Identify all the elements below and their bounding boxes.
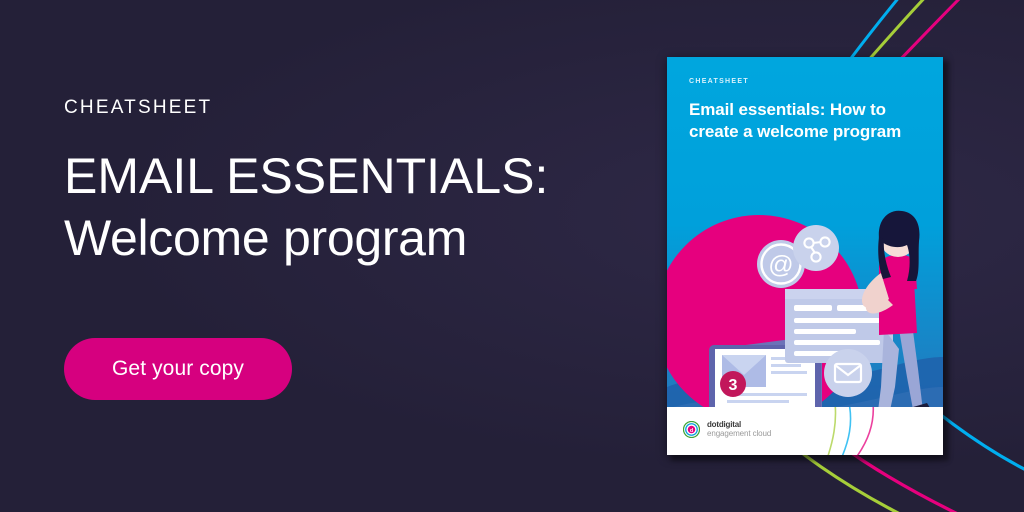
dotdigital-logo: d dotdigital engagement cloud: [683, 421, 771, 439]
eyebrow-label: CHEATSHEET: [64, 98, 624, 117]
svg-text:3: 3: [729, 377, 738, 394]
logo-tagline: engagement cloud: [707, 430, 771, 439]
page-title: EMAIL ESSENTIALS: Welcome program: [64, 151, 624, 263]
envelope-icon: [824, 349, 872, 397]
cover-footer: d dotdigital engagement cloud: [667, 407, 943, 455]
notification-badge: 3: [720, 371, 746, 397]
svg-text:d: d: [690, 428, 693, 434]
cover-card-surface: @: [667, 57, 943, 455]
target-ring-icon: d: [683, 421, 700, 438]
cover-eyebrow: CHEATSHEET: [689, 78, 749, 85]
headline-line-1: EMAIL ESSENTIALS:: [64, 151, 624, 201]
promo-banner: CHEATSHEET EMAIL ESSENTIALS: Welcome pro…: [0, 0, 1024, 512]
cheatsheet-cover-card[interactable]: @: [667, 57, 945, 457]
cover-title: Email essentials: How to create a welcom…: [689, 99, 927, 142]
banner-copy: CHEATSHEET EMAIL ESSENTIALS: Welcome pro…: [64, 98, 624, 263]
svg-text:@: @: [768, 251, 793, 279]
headline-line-2: Welcome program: [64, 213, 624, 263]
get-your-copy-button[interactable]: Get your copy: [64, 338, 292, 400]
share-network-circle-icon: [793, 225, 839, 271]
